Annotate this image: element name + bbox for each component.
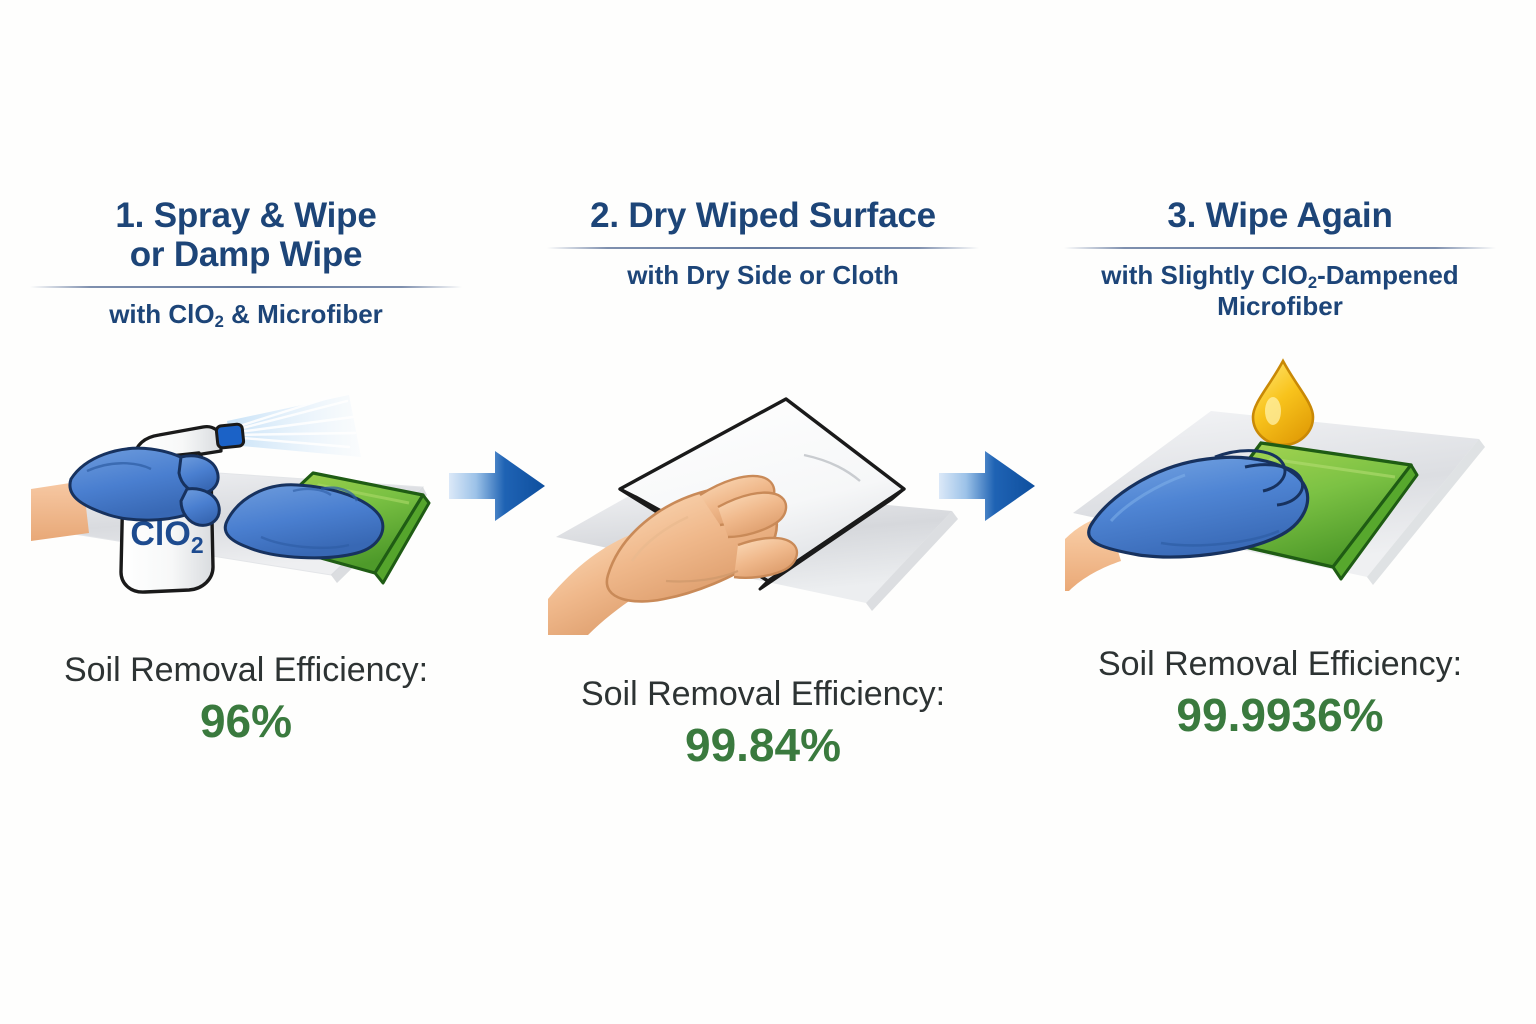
step-3-metric-value: 99.9936% [1060, 688, 1500, 742]
droplet-icon [1253, 361, 1313, 445]
step-2-illustration [548, 385, 978, 635]
step-panel-3: 3. Wipe Again with Slightly ClO2-Dampene… [1060, 0, 1500, 742]
step-2-divider [547, 247, 978, 249]
spray-mist-icon [227, 395, 361, 457]
step-2-metric-label: Soil Removal Efficiency: [543, 675, 983, 714]
step-2-header: 2. Dry Wiped Surface with Dry Side or Cl… [543, 196, 983, 291]
step-3-illustration [1065, 355, 1495, 605]
step-1-title-line2: or Damp Wipe [26, 235, 466, 274]
step-3-title: 3. Wipe Again [1060, 196, 1500, 235]
step-1-illustration: ClO2 [31, 361, 461, 611]
step-3-subtitle: with Slightly ClO2-Dampened Microfiber [1060, 260, 1500, 322]
step-2-subtitle: with Dry Side or Cloth [543, 260, 983, 291]
step-1-metric-value: 96% [26, 694, 466, 748]
step-1-subtitle-post: & Microfiber [224, 299, 383, 329]
steps-row: 1. Spray & Wipe or Damp Wipe with ClO2 &… [0, 0, 1536, 1024]
spray-and-wipe-illustration: ClO2 [31, 361, 461, 611]
step-1-metric-label: Soil Removal Efficiency: [26, 651, 466, 690]
step-3-subtitle-post: -Dampened [1317, 260, 1459, 290]
step-2-title-line1: 2. Dry Wiped Surface [543, 196, 983, 235]
step-1-metric: Soil Removal Efficiency: 96% [26, 651, 466, 748]
step-1-subtitle: with ClO2 & Microfiber [26, 299, 466, 330]
step-3-subtitle-pre: with Slightly ClO [1101, 260, 1308, 290]
step-3-subtitle-line2: Microfiber [1060, 291, 1500, 322]
step-3-subtitle-subscript: 2 [1308, 273, 1317, 292]
step-1-title: 1. Spray & Wipe or Damp Wipe [26, 196, 466, 274]
arrow-step2-to-step3 [937, 443, 1037, 529]
step-1-header: 1. Spray & Wipe or Damp Wipe with ClO2 &… [26, 196, 466, 331]
dry-wipe-illustration [548, 385, 978, 635]
step-3-metric: Soil Removal Efficiency: 99.9936% [1060, 645, 1500, 742]
step-2-metric: Soil Removal Efficiency: 99.84% [543, 675, 983, 772]
step-panel-2: 2. Dry Wiped Surface with Dry Side or Cl… [543, 0, 983, 773]
right-arrow-icon [447, 443, 547, 529]
infographic-canvas: 1. Spray & Wipe or Damp Wipe with ClO2 &… [0, 0, 1536, 1024]
step-panel-1: 1. Spray & Wipe or Damp Wipe with ClO2 &… [26, 0, 466, 748]
wipe-again-illustration [1065, 355, 1495, 605]
step-2-title: 2. Dry Wiped Surface [543, 196, 983, 235]
step-1-divider [30, 286, 461, 288]
step-3-metric-label: Soil Removal Efficiency: [1060, 645, 1500, 684]
step-1-subtitle-subscript: 2 [215, 312, 224, 331]
step-1-title-line1: 1. Spray & Wipe [26, 196, 466, 235]
step-3-subtitle-line1: with Slightly ClO2-Dampened [1060, 260, 1500, 291]
step-1-subtitle-pre: with ClO [109, 299, 214, 329]
right-arrow-icon [937, 443, 1037, 529]
step-3-header: 3. Wipe Again with Slightly ClO2-Dampene… [1060, 196, 1500, 323]
step-3-divider [1064, 247, 1495, 249]
arrow-step1-to-step2 [447, 443, 547, 529]
step-3-title-line1: 3. Wipe Again [1060, 196, 1500, 235]
step-2-metric-value: 99.84% [543, 718, 983, 772]
